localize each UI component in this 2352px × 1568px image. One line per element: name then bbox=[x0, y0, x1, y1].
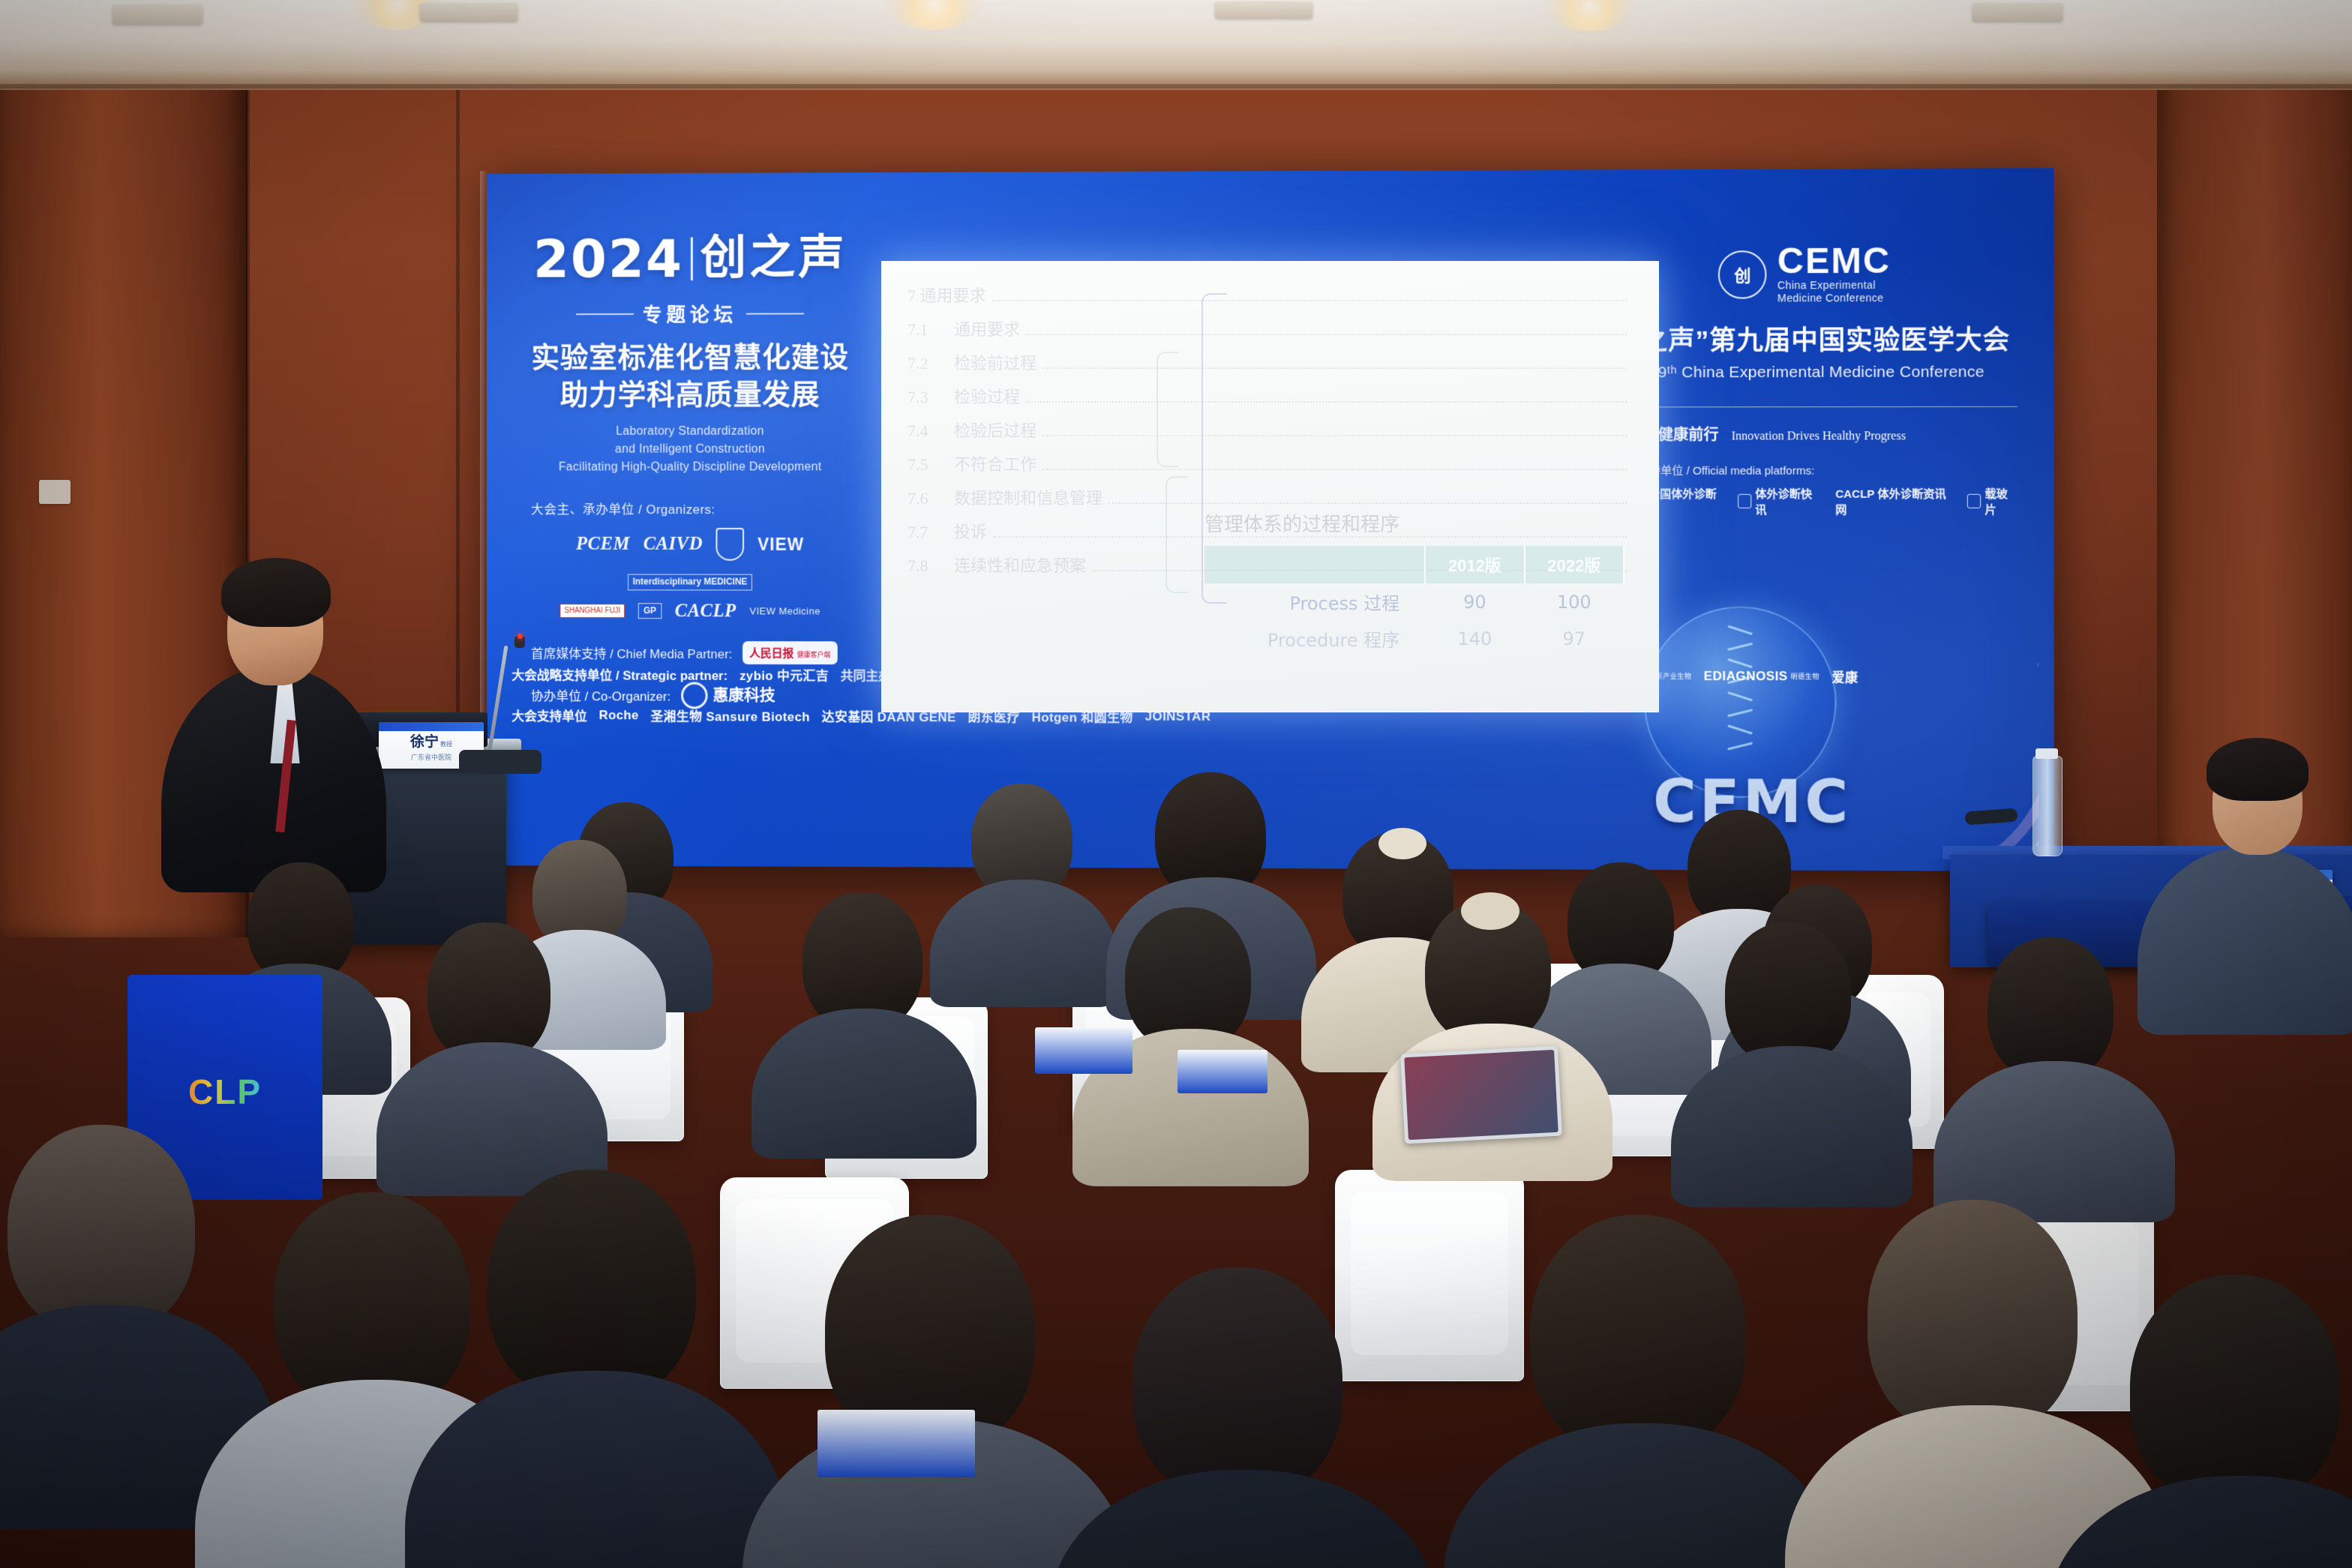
chair-seat-badge bbox=[817, 1410, 975, 1477]
ceiling-vent bbox=[1215, 1, 1312, 18]
huikang-mark-icon bbox=[681, 682, 708, 709]
table-header-2022: 2022版 bbox=[1525, 546, 1624, 583]
logo-caivd: CAIVD bbox=[643, 534, 703, 555]
toc-num: 7.2 bbox=[907, 354, 954, 373]
toc-num: 7.6 bbox=[907, 489, 954, 508]
dna-helix-icon bbox=[1727, 629, 1753, 761]
forum-title-line1: 实验室标准化智慧化建设 bbox=[531, 339, 850, 377]
cemc-mark: CEMC bbox=[1777, 244, 1891, 279]
slide-table: 2012版 2022版 Process 过程 90 100 Procedure … bbox=[1204, 546, 1624, 657]
logo-huikang: 惠康科技 bbox=[681, 682, 775, 709]
speaker-name: 徐宁教授 bbox=[379, 735, 484, 749]
cemc-seal-icon: 创 bbox=[1718, 250, 1767, 298]
slide-table-block: 管理体系的过程和程序 2012版 2022版 Process 过程 90 bbox=[1204, 509, 1624, 657]
toc-dots bbox=[1026, 334, 1627, 335]
audience-member bbox=[1560, 862, 1687, 1050]
support-label: 大会支持单位 bbox=[511, 706, 586, 724]
table-row: Procedure 程序 140 97 bbox=[1204, 620, 1624, 657]
toc-num: 7.3 bbox=[907, 388, 954, 407]
logo-ediagnosis: EDIAGNOSIS明德生物 bbox=[1704, 668, 1819, 683]
toc-row: 7.5不符合工作 bbox=[907, 451, 1633, 475]
table-cell-2012: 90 bbox=[1425, 583, 1524, 620]
toc-text: 通用要求 bbox=[954, 316, 1020, 340]
logo-year: 2024 bbox=[533, 232, 683, 285]
ceiling-vent bbox=[1972, 3, 2062, 21]
logo-interdisciplinary-medicine: Interdisciplinary MEDICINE bbox=[628, 574, 753, 590]
audience-member bbox=[0, 1125, 225, 1447]
toc-dots bbox=[992, 300, 1627, 301]
forum-title-en-line1: Laboratory Standardization bbox=[531, 423, 850, 441]
audience-member bbox=[1117, 907, 1267, 1132]
audience-head bbox=[1867, 1200, 2077, 1438]
microphone-base bbox=[459, 750, 541, 774]
table-cell-label: Process 过程 bbox=[1204, 583, 1425, 620]
water-bottle-cap bbox=[2035, 748, 2058, 759]
audience-member bbox=[817, 1215, 1065, 1568]
cemc-sub-line2: Medicine Conference bbox=[1777, 292, 1891, 305]
logo-aikang: 爱康 bbox=[1831, 667, 1858, 685]
table-cell-2022: 100 bbox=[1525, 583, 1624, 620]
conference-photo: 2024 创之声 专题论坛 实验室标准化智慧化建设 助力学科高质量发展 Labo… bbox=[0, 0, 2352, 1568]
ceiling-vent bbox=[112, 4, 202, 24]
logo-slide-media: 载玻片 bbox=[1967, 485, 2017, 517]
phone-screen bbox=[1404, 1050, 1558, 1140]
logo-brand-cn: 创之声 bbox=[700, 235, 847, 282]
panelist-person bbox=[2160, 735, 2352, 982]
panelist-torso bbox=[2137, 847, 2352, 1035]
audience-head bbox=[7, 1125, 195, 1335]
logo-view: VIEW bbox=[757, 535, 804, 555]
projection-screen: 7 通用要求 7.1通用要求 7.2检验前过程 7.3检验过程 7.4检验后过程… bbox=[881, 261, 1659, 712]
toc-text: 数据控制和信息管理 bbox=[954, 485, 1102, 509]
forum-title-en-line3: Facilitating High-Quality Discipline Dev… bbox=[531, 459, 850, 477]
strategic-unit-label: 大会战略支持单位 / Strategic partner: bbox=[511, 664, 727, 683]
audience-head bbox=[1132, 1267, 1342, 1501]
toc-dots bbox=[1026, 401, 1627, 403]
audience-member bbox=[795, 892, 937, 1110]
audience-member bbox=[1980, 937, 2130, 1162]
toc-dots bbox=[1042, 469, 1627, 470]
toc-heading: 7 通用要求 bbox=[907, 283, 986, 307]
speaker-name-text: 徐宁 bbox=[410, 734, 439, 750]
slide-mark-icon bbox=[1967, 494, 1981, 508]
organizers-label: 大会主、承办单位 / Organizers: bbox=[531, 499, 850, 517]
audience-member bbox=[1860, 1200, 2107, 1560]
audience-member bbox=[1125, 1267, 1372, 1568]
peoples-daily-sub: 健康客户端 bbox=[797, 651, 831, 658]
logo-sansure: 圣湘生物 Sansure Biotech bbox=[651, 706, 810, 724]
audience-member bbox=[2122, 1275, 2352, 1568]
logo-zybio: zybio 中元汇吉 bbox=[739, 665, 829, 684]
logo-roche: Roche bbox=[599, 708, 639, 723]
caclp-media-label: CACLP 体外诊断资讯网 bbox=[1835, 485, 1951, 517]
toc-row: 7.2检验前过程 bbox=[907, 350, 1633, 374]
cemc-sub-line1: China Experimental bbox=[1777, 278, 1891, 292]
rule-right bbox=[746, 313, 804, 314]
audience-member bbox=[1717, 922, 1867, 1147]
speaker-torso bbox=[161, 667, 386, 892]
audience-hair-clip-icon bbox=[1378, 828, 1426, 859]
rule-left bbox=[576, 313, 634, 314]
panelist-hair bbox=[2206, 738, 2308, 801]
table-row: Process 过程 90 100 bbox=[1204, 583, 1624, 620]
forum-title-en-line2: and Intelligent Construction bbox=[531, 441, 850, 459]
chair-seat-badge bbox=[1035, 1027, 1132, 1074]
chief-media-label: 首席媒体支持 / Chief Media Partner: bbox=[531, 643, 732, 661]
event-logo: 2024 创之声 bbox=[531, 232, 850, 286]
audience-head bbox=[1987, 937, 2113, 1081]
table-header-row: 2012版 2022版 bbox=[1204, 546, 1624, 583]
forum-label-rule: 专题论坛 bbox=[531, 299, 850, 328]
slide-table-title: 管理体系的过程和程序 bbox=[1204, 509, 1624, 537]
toc-text: 检验前过程 bbox=[954, 350, 1036, 374]
ediagnosis-name: EDIAGNOSIS bbox=[1704, 668, 1788, 683]
toc-brace-group-1 bbox=[1156, 352, 1179, 467]
toc-dots bbox=[1042, 367, 1627, 369]
ceiling-edge bbox=[0, 84, 2352, 88]
chief-media-row: 首席媒体支持 / Chief Media Partner: 人民日报 健康客户端 bbox=[531, 640, 850, 664]
snibe-cn: 新产业生物 bbox=[1656, 671, 1692, 681]
logo-pcem: PCEM bbox=[576, 534, 630, 555]
aikang-name: 爱康 bbox=[1831, 667, 1858, 685]
peoples-daily-cn: 人民日报 bbox=[749, 648, 793, 660]
speaker-hair bbox=[221, 558, 331, 627]
toc-dots bbox=[1042, 435, 1627, 436]
ediagnosis-cn: 明德生物 bbox=[1791, 671, 1819, 681]
speaker-title-text: 教授 bbox=[440, 741, 452, 748]
smartphone bbox=[1400, 1046, 1562, 1144]
toc-text: 检验后过程 bbox=[954, 418, 1036, 442]
toc-text: 投诉 bbox=[954, 519, 987, 543]
toc-num: 7.8 bbox=[907, 556, 954, 576]
toc-text: 不符合工作 bbox=[954, 451, 1036, 475]
audience-member bbox=[1522, 1215, 1777, 1568]
nameplate-header-band bbox=[379, 722, 484, 731]
toc-num: 7.1 bbox=[907, 320, 954, 340]
ceiling-vent bbox=[420, 3, 517, 21]
speaker-person bbox=[169, 547, 394, 885]
forum-title-en: Laboratory Standardization and Intellige… bbox=[531, 423, 850, 477]
theme-rule bbox=[1650, 406, 2017, 408]
theme-en: Innovation Drives Healthy Progress bbox=[1732, 430, 1906, 442]
chair-seat-badge bbox=[1177, 1050, 1267, 1093]
forum-title: 实验室标准化智慧化建设 助力学科高质量发展 bbox=[531, 339, 850, 414]
audience-head bbox=[1530, 1215, 1746, 1456]
ivd-news-label: 体外诊断快讯 bbox=[1755, 485, 1820, 517]
audience-member bbox=[964, 784, 1084, 971]
water-bottle bbox=[2032, 756, 2062, 856]
toc-row: 7.1通用要求 bbox=[907, 316, 1633, 340]
presentation-slide: 7 通用要求 7.1通用要求 7.2检验前过程 7.3检验过程 7.4检验后过程… bbox=[882, 262, 1658, 712]
toc-text: 检验过程 bbox=[954, 384, 1020, 408]
table-cell-2022: 97 bbox=[1525, 620, 1624, 657]
logo-ivd-news: 体外诊断快讯 bbox=[1738, 485, 1820, 517]
toc-brace-group-2 bbox=[1165, 476, 1188, 593]
forum-label: 专题论坛 bbox=[643, 300, 737, 328]
toc-num: 7.5 bbox=[907, 455, 954, 475]
logo-caclp-media: CACLP 体外诊断资讯网 bbox=[1835, 485, 1951, 517]
toc-num: 7.7 bbox=[907, 523, 954, 542]
audience-member bbox=[480, 1170, 727, 1545]
audience-hair-clip-icon bbox=[1461, 892, 1519, 930]
co-organizer-row: 协办单位 / Co-Organizer: 惠康科技 bbox=[531, 682, 850, 709]
co-organizer-label: 协办单位 / Co-Organizer: bbox=[531, 685, 670, 704]
logo-divider bbox=[691, 237, 693, 280]
logo-peoples-daily: 人民日报 健康客户端 bbox=[742, 641, 837, 664]
audience-head bbox=[487, 1170, 696, 1404]
toc-text: 连续性和应急预案 bbox=[954, 553, 1086, 577]
cemc-wordmark: CEMC China Experimental Medicine Confere… bbox=[1777, 244, 1891, 305]
audience-head bbox=[2130, 1275, 2340, 1507]
audience-member bbox=[420, 922, 566, 1144]
table-cell-label: Procedure 程序 bbox=[1204, 620, 1425, 657]
forum-title-line2: 助力学科高质量发展 bbox=[531, 376, 850, 414]
table-header-blank bbox=[1204, 546, 1425, 583]
toc-row: 7.6数据控制和信息管理 bbox=[907, 485, 1633, 509]
toc-num: 7.4 bbox=[907, 421, 954, 441]
table-cell-2012: 140 bbox=[1425, 620, 1524, 657]
toc-heading-row: 7 通用要求 bbox=[907, 283, 1633, 307]
huikang-name: 惠康科技 bbox=[712, 688, 775, 703]
toc-row: 7.4检验后过程 bbox=[907, 418, 1633, 442]
toc-row: 7.3检验过程 bbox=[907, 384, 1633, 408]
organizers-logo-row-1: PCEM CAIVD VIEW Interdisciplinary MEDICI… bbox=[531, 528, 850, 590]
audience-head bbox=[1725, 922, 1851, 1066]
wall-outlet bbox=[39, 480, 70, 504]
slide-media-label: 载玻片 bbox=[1984, 485, 2017, 517]
university-crest-icon bbox=[716, 528, 745, 561]
table-header-2012: 2012版 bbox=[1425, 546, 1524, 583]
tote-bag-text: CLP bbox=[188, 1072, 262, 1112]
microphone-led-indicator bbox=[517, 634, 523, 639]
ivd-news-mark-icon bbox=[1738, 494, 1751, 508]
